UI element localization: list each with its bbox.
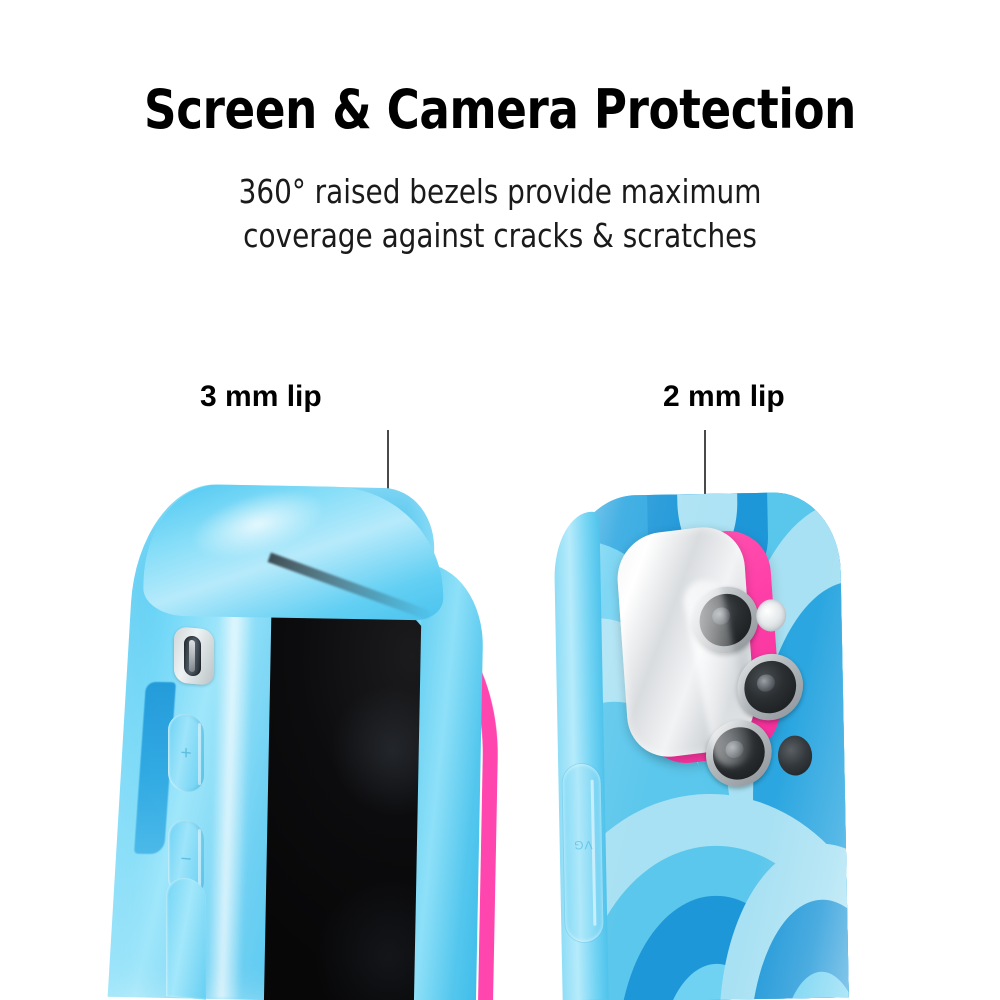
product-infographic: Screen & Camera Protection 360° raised b… [0, 0, 1000, 1000]
volume-up-button: + [168, 712, 204, 793]
callout-label-right: 2 mm lip [663, 380, 785, 414]
camera-module-plate [615, 522, 758, 761]
case-bottom-detail [166, 876, 206, 999]
subtitle-line-2: coverage against cracks & scratches [30, 214, 970, 258]
phone-front-view: + − [118, 486, 448, 1000]
callout-label-left: 3 mm lip [200, 380, 322, 414]
button-edge-highlight [591, 780, 597, 926]
case-front-rail [414, 563, 485, 1000]
page-title: Screen & Camera Protection [35, 78, 965, 142]
case-brand-emboss: VG [564, 838, 602, 853]
volume-button-right: VG [562, 764, 603, 943]
page-subtitle: 360° raised bezels provide maximum cover… [30, 170, 970, 258]
button-edge-highlight [198, 723, 201, 785]
phone-back-view: VG [556, 486, 876, 1000]
button-edge-highlight [198, 829, 201, 891]
mute-switch [184, 635, 201, 676]
subtitle-line-1: 360° raised bezels provide maximum [30, 170, 970, 214]
